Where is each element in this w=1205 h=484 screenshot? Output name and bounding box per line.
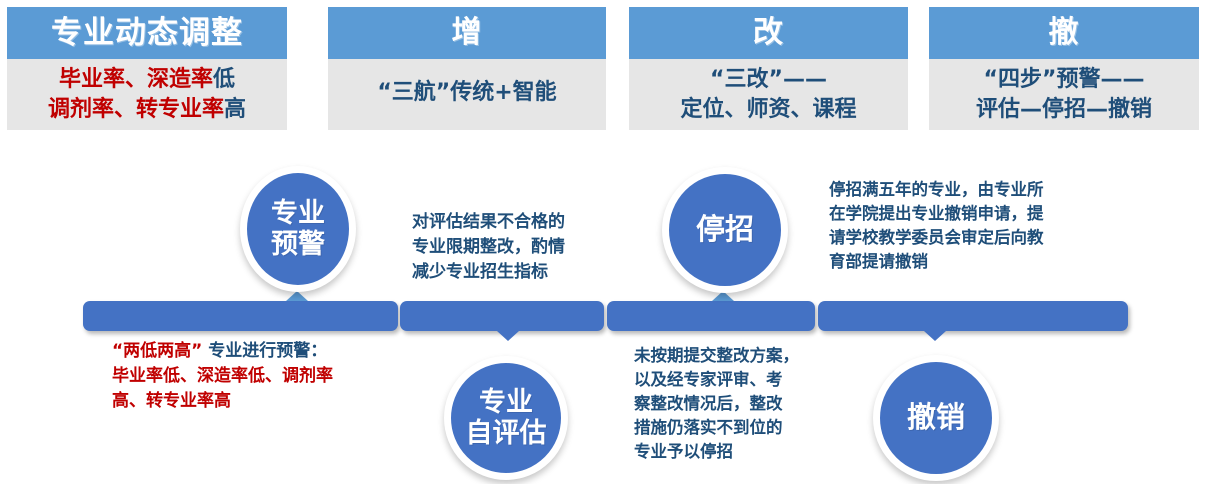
callout-line: 专业予以停招 (634, 440, 799, 464)
circle-revoke[interactable]: 撤销 (873, 355, 999, 481)
circle-major-self-assessment[interactable]: 专业 自评估 (444, 356, 568, 480)
callout-warning-criteria: “两低两高” 专业进行预警： 毕业率低、深造率低、调剂率 高、转专业率高 (112, 339, 333, 414)
callout-line: 毕业率低、深造率低、调剂率 (112, 364, 333, 389)
circle-label-line: 自评估 (466, 418, 547, 449)
callout-rectification: 对评估结果不合格的 专业限期整改，酌情 减少专业招生指标 (412, 210, 565, 285)
card-withdraw[interactable]: 撤 “四步”预警—— 评估—停招—撤销 (929, 7, 1199, 130)
callout-line: “两低两高” 专业进行预警： (112, 339, 333, 364)
card-reform[interactable]: 改 “三改”—— 定位、师资、课程 (629, 7, 908, 130)
card-body-fragment: 低 (213, 67, 235, 92)
card-title: 专业动态调整 (7, 7, 287, 59)
timeline-segment-1[interactable] (83, 301, 398, 331)
callout-line: 育部提请撤销 (829, 250, 1044, 274)
circle-label-line: 停招 (696, 213, 754, 246)
callout-line: 措施仍落实不到位的 (634, 416, 799, 440)
card-title: 改 (629, 7, 908, 59)
timeline-notch-down-2 (924, 331, 946, 341)
callout-line: 专业限期整改，酌情 (412, 235, 565, 260)
circle-label-line: 专业 (271, 198, 325, 229)
timeline-segment-2[interactable] (400, 301, 604, 331)
card-body-fragment: 高 (224, 97, 246, 122)
circle-suspend-enrollment[interactable]: 停招 (662, 167, 788, 293)
timeline-segment-3[interactable] (607, 301, 815, 331)
card-title: 增 (328, 7, 606, 59)
callout-fragment: “两低两高” (112, 341, 202, 361)
circle-label-line: 预警 (271, 229, 325, 260)
card-body: “三航”传统+智能 (328, 59, 606, 130)
slide-canvas: 专业动态调整 毕业率、深造率低 调剂率、转专业率高 增 “三航”传统+智能 改 … (0, 0, 1205, 484)
timeline-notch-up-1 (286, 291, 308, 301)
card-body-fragment: 调剂率、转专业率 (48, 97, 224, 122)
card-add[interactable]: 增 “三航”传统+智能 (328, 7, 606, 130)
card-title: 撤 (929, 7, 1199, 59)
circle-label: 专业 自评估 (466, 387, 547, 449)
card-dynamic-adjustment[interactable]: 专业动态调整 毕业率、深造率低 调剂率、转专业率高 (7, 7, 287, 130)
card-body-line: 调剂率、转专业率高 (11, 95, 283, 125)
card-body-fragment: 毕业率、深造率 (59, 67, 213, 92)
card-body-line: “三改”—— (633, 65, 904, 95)
card-body: “三改”—— 定位、师资、课程 (629, 59, 908, 130)
callout-suspend-conditions: 未按期提交整改方案， 以及经专家评审、考 察整改情况后，整改 措施仍落实不到位的… (634, 344, 799, 464)
card-body: 毕业率、深造率低 调剂率、转专业率高 (7, 59, 287, 130)
callout-line: 请学校教学委员会审定后向教 (829, 226, 1044, 250)
callout-fragment: 专业进行预警： (202, 341, 327, 361)
circle-major-warning[interactable]: 专业 预警 (240, 166, 356, 292)
card-body-line: “三航”传统+智能 (332, 78, 602, 108)
callout-line: 高、转专业率高 (112, 389, 333, 414)
callout-line: 未按期提交整改方案， (634, 344, 799, 368)
timeline-segment-4[interactable] (818, 301, 1128, 331)
card-body-line: “四步”预警—— (933, 65, 1195, 95)
card-body: “四步”预警—— 评估—停招—撤销 (929, 59, 1199, 130)
circle-label: 撤销 (907, 401, 965, 434)
callout-line: 在学院提出专业撤销申请，提 (829, 202, 1044, 226)
callout-revoke-procedure: 停招满五年的专业，由专业所 在学院提出专业撤销申请，提 请学校教学委员会审定后向… (829, 178, 1044, 274)
timeline-notch-down-1 (497, 331, 519, 341)
circle-label: 专业 预警 (271, 198, 325, 260)
card-body-line: 毕业率、深造率低 (11, 65, 283, 95)
callout-line: 以及经专家评审、考 (634, 368, 799, 392)
callout-line: 减少专业招生指标 (412, 260, 565, 285)
callout-line: 对评估结果不合格的 (412, 210, 565, 235)
card-body-line: 评估—停招—撤销 (933, 95, 1195, 125)
callout-line: 停招满五年的专业，由专业所 (829, 178, 1044, 202)
circle-label-line: 专业 (466, 387, 547, 418)
callout-line: 察整改情况后，整改 (634, 392, 799, 416)
circle-label-line: 撤销 (907, 401, 965, 434)
circle-label: 停招 (696, 213, 754, 246)
card-body-line: 定位、师资、课程 (633, 95, 904, 125)
